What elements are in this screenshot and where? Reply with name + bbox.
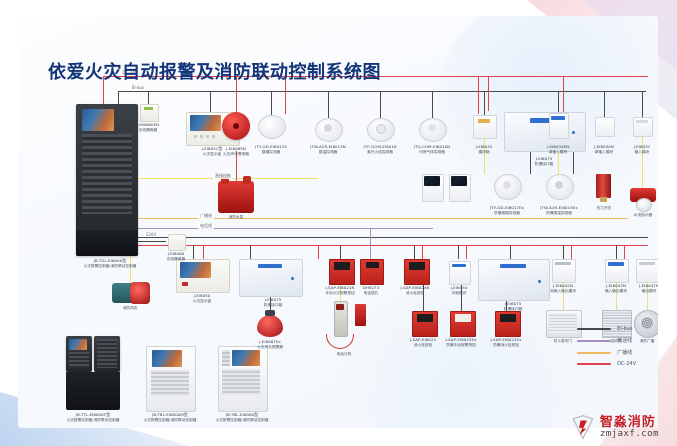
cabinet-tbl-keys-left — [222, 350, 230, 366]
label-broadcast: 广播线 — [198, 213, 214, 219]
device-isolator-main[interactable] — [168, 234, 186, 251]
device-exproof-sounder-6087ex[interactable] — [257, 315, 283, 337]
display-6051-buttons — [194, 135, 218, 138]
legend-label-dc24v: DC-24V — [617, 361, 636, 367]
drop-dc-4 — [488, 76, 489, 111]
label-exproof-smoke-6017ex: JTY-GD-EI6017Ex 防爆感烟探测器 — [490, 206, 524, 216]
label-cabinet-tbl: JB-TBL-EI6000型 火灾报警控制器/消防联动控制器 — [216, 413, 269, 423]
isolator-top-tag — [144, 107, 153, 110]
line-telephone — [103, 228, 433, 229]
drop-lower-4 — [414, 245, 415, 259]
label-io-module-6042n: J-EI6042N 双输入输出模块 — [550, 284, 576, 294]
exproof-box-6075-low-tag — [500, 264, 526, 268]
cabinet-tbl-keys — [222, 369, 260, 395]
legend-row-dc24v: DC-24V — [577, 361, 636, 367]
label-direct-control: 直接控制 — [213, 173, 233, 179]
drop-lower-7 — [563, 245, 564, 259]
label-fire-pump: 消防水泵 — [229, 215, 244, 220]
drop-ei-8 — [558, 91, 559, 113]
label-mcp-6021n: J-SAP-EI6021N 手动火灾报警按钮 — [325, 286, 355, 296]
legend-row-broadcast: 广播线 — [577, 349, 636, 356]
device-input-module-6030n[interactable] — [595, 117, 615, 137]
repeater-6054-tag — [452, 264, 466, 267]
drop-ei-10 — [642, 91, 643, 117]
display-6050-led — [182, 282, 188, 286]
telephone-handset-cord — [326, 334, 354, 349]
input-module-6031-tag — [636, 120, 648, 123]
label-phone-jack-9273: DH9273 电话插孔 — [363, 286, 379, 296]
exproof-heat-core — [555, 181, 563, 189]
device-mcp-6021n[interactable] — [329, 259, 355, 285]
label-220v: 220V — [144, 232, 158, 237]
device-phone-jack-9273[interactable] — [360, 259, 384, 285]
legend-line-telephone — [577, 340, 611, 342]
bus-ei-top — [118, 91, 646, 92]
main-controller-display — [82, 109, 114, 131]
label-gas-detector-6010n: JTQ-CHM-EI6010N 可燃气体探测器 — [414, 145, 450, 155]
exproof-box-6075-mid-led — [291, 277, 294, 280]
label-fire-display-6051: J-EI6051型 火灾显示盘 — [202, 147, 223, 157]
diagram-board: 依爱火灾自动报警及消防联动控制系统图 DC-24V EI-bus 直接控制 广 — [18, 16, 658, 428]
drop-lower-8r — [624, 245, 625, 259]
diagram-page: 依爱火灾自动报警及消防联动控制系统图 DC-24V EI-bus 直接控制 广 — [0, 0, 677, 446]
device-hydrant-button-6023[interactable] — [412, 311, 438, 337]
io-module-6043n-tag — [608, 262, 624, 266]
drop-ei-6 — [432, 91, 433, 118]
exproof-box-6075-low-led — [538, 280, 541, 283]
label-fire-speaker: 消防广播 — [640, 339, 655, 344]
label-cabinet-tbl-m: JB-TBL-EI6000M型 火灾报警控制器/消防联动控制器 — [144, 413, 197, 423]
drop-ei-2 — [210, 91, 211, 113]
drop-ei-9 — [604, 91, 605, 117]
device-pressure-switch[interactable] — [596, 174, 611, 198]
label-smoke-detector-6012s: JTY-GD-EI6012S 感烟探测器 — [255, 145, 287, 155]
label-cabinet-tt: JB-TTL-EI6000T型 火灾报警控制器/消防联动控制器 — [67, 413, 120, 423]
label-main-controller: JB-TGL-EI6000型 火灾报警控制器/消防联动控制器 — [84, 259, 137, 269]
io-module-6042n-tag — [555, 262, 571, 265]
label-isolator-top: J-EI6060EN 总线隔离器 — [137, 123, 159, 133]
label-heat-detector-6013n: JTW-A2R-EI6013N 感温探测器 — [310, 145, 346, 155]
drop-lower-5 — [458, 245, 459, 259]
socket-right-face — [451, 176, 467, 186]
module-box-6032-tag — [478, 119, 490, 123]
legend-label-telephone: 电话线 — [617, 337, 632, 344]
exproof-box-6075-mid-tag — [258, 264, 282, 268]
drop-ex-2 — [530, 150, 531, 174]
label-io-module-6043n: J-EI6043N 输入输出模块 — [605, 284, 627, 294]
exproof-sounder-top — [265, 310, 275, 316]
legend-label-ei-bus: EI-bus — [617, 326, 632, 332]
label-output-module-6047n: J-EI6047N 输出模块 — [639, 284, 658, 294]
drop-lower-tel — [370, 228, 371, 259]
label-hydrant-button-6023: J-SAP-EI6023 消火栓按钮 — [410, 338, 436, 348]
drop-lower-4r — [422, 245, 423, 259]
label-ei-bus: EI-bus — [130, 85, 146, 90]
legend-line-ei-bus — [577, 328, 611, 330]
brand-name: 智淼消防 — [600, 416, 659, 429]
device-smoke-detector-6012s[interactable] — [258, 115, 286, 139]
legend-row-telephone: 电话线 — [577, 337, 636, 344]
line-broadcast — [103, 218, 628, 219]
cabinet-tbl-m-screen — [152, 350, 182, 367]
drop-lower-1r — [203, 245, 204, 259]
cabinet-tbl-m-keys — [151, 370, 189, 396]
label-isolator-main: J-EI6060 总线隔离器 — [167, 252, 185, 262]
drop-dc-3 — [478, 76, 479, 114]
fire-pump-flange-b — [243, 176, 251, 184]
label-input-module-6030en: J-EI6030EN 单输入模块 — [547, 145, 569, 155]
label-input-module-6031: J-EI6031 输入模块 — [634, 145, 651, 155]
drop-lower-7r — [571, 245, 572, 259]
watermark: 智淼消防 zmjaxf.com — [570, 414, 659, 440]
drop-ei-5 — [380, 91, 381, 118]
legend-row-ei-bus: EI-bus — [577, 326, 636, 332]
page-title: 依爱火灾自动报警及消防联动控制系统图 — [48, 58, 381, 84]
cabinet-tt-screen-a — [69, 339, 87, 350]
label-exproof-hydrant-6023ex: J-SAP-EI6023Ex 防爆消火栓按钮 — [491, 338, 522, 348]
drop-ex-1y — [484, 137, 485, 174]
device-hydrant-button-6024n[interactable] — [404, 259, 430, 285]
drop-ex-3 — [573, 150, 574, 174]
legend-line-broadcast — [577, 352, 611, 354]
label-exproof-box-6075-top: J-EI6075 防爆接口箱 — [535, 157, 553, 167]
display-6050-screen — [180, 262, 211, 278]
device-exproof-mcp-6025ex[interactable] — [450, 311, 476, 337]
input-module-6030en-tag — [551, 116, 565, 120]
gas-detector-core — [428, 124, 436, 132]
label-hydrant-button-6024n: J-SAP-EI6024N 消火栓按钮 — [401, 286, 430, 296]
label-flame-detector-6016: JTF-GOM-EI6016 紫外火焰探测器 — [363, 145, 396, 155]
label-sounder-6085n: J-EI6085N 火灾声光警报器 — [223, 147, 249, 157]
label-telephone: 电话线 — [198, 223, 214, 229]
legend-line-dc24v — [577, 363, 611, 365]
socket-left-face — [424, 176, 440, 186]
legend: EI-bus 电话线 广播线 DC-24V — [577, 326, 636, 372]
drop-lower-1 — [193, 245, 194, 259]
fire-shutter-slats — [549, 313, 577, 333]
label-exproof-mcp-6025ex: J-SAP-EI6025Ex 防爆手动报警按钮 — [446, 338, 477, 348]
drop-lower-3 — [340, 245, 341, 259]
exproof-box-6075-top-led — [572, 131, 575, 134]
device-fire-pump[interactable] — [218, 181, 254, 213]
telephone-handset-keys — [336, 304, 344, 310]
label-exproof-heat-6015ex: JTW-A2R-EI6015Ex 防爆感温探测器 — [540, 206, 578, 216]
pressure-switch-base — [600, 197, 607, 202]
heat-detector-core — [324, 124, 332, 132]
label-repeater-6054: J-EI6054 中继模块 — [451, 286, 468, 296]
cabinet-tt-keys-a — [69, 352, 89, 368]
cabinet-tbl-screen — [232, 350, 260, 366]
drop-lower-8 — [616, 245, 617, 259]
drop-ei-7 — [484, 91, 485, 115]
sounder-6085n-center — [233, 123, 239, 129]
drop-lower-6 — [510, 245, 511, 259]
label-input-module-6030n: J-EI6030N 单输入模块 — [594, 145, 614, 155]
label-flow-indicator: 水流指示器 — [634, 213, 652, 218]
label-exproof-box-6075-low: J-EI6075 防爆接口箱 — [504, 302, 522, 312]
fire-fan-motor[interactable] — [130, 282, 150, 304]
display-6051-screen — [190, 115, 221, 131]
label-pressure-switch: 压力开关 — [597, 206, 612, 211]
device-exproof-hydrant-6023ex[interactable] — [495, 311, 521, 337]
exproof-smoke-core — [503, 181, 511, 189]
main-controller-keys — [82, 134, 132, 214]
drop-ei-1 — [148, 91, 149, 104]
label-telephone-handset: 电话分机 — [337, 352, 352, 357]
label-fire-fan: 消防风机 — [123, 306, 138, 311]
brand-logo-icon — [570, 414, 596, 440]
cabinet-tt-base — [66, 372, 120, 410]
fire-speaker-cone — [641, 317, 653, 329]
flow-indicator-body — [636, 198, 652, 212]
drop-lower-5r — [466, 245, 467, 259]
legend-label-broadcast: 广播线 — [617, 349, 632, 356]
flame-detector-core — [376, 124, 386, 134]
label-fire-display-6050: J-EI6050 火灾显示盘 — [193, 294, 211, 304]
output-module-6047n-tag — [639, 262, 655, 265]
brand-site: zmjaxf.com — [600, 429, 659, 439]
label-exproof-box-6075-mid: J-EI6075 防爆接口箱 — [264, 298, 282, 308]
device-telephone-case — [355, 304, 366, 326]
label-module-box-6032: J-EI6032 模块箱 — [476, 145, 493, 155]
label-exproof-sounder-6087ex: J-EI6087Ex 火灾声光报警器 — [257, 340, 283, 350]
cabinet-tt-keys-b — [97, 339, 117, 368]
main-controller-base — [76, 230, 138, 256]
label-fire-shutter-door: 防火卷帘门 — [554, 339, 572, 344]
drop-lower-2r — [318, 245, 319, 259]
drop-lower-2 — [250, 245, 251, 259]
drop-ei-4 — [328, 91, 329, 118]
drop-ei-3 — [271, 91, 272, 115]
line-220v — [138, 241, 166, 242]
drop-dc-5 — [563, 76, 564, 114]
